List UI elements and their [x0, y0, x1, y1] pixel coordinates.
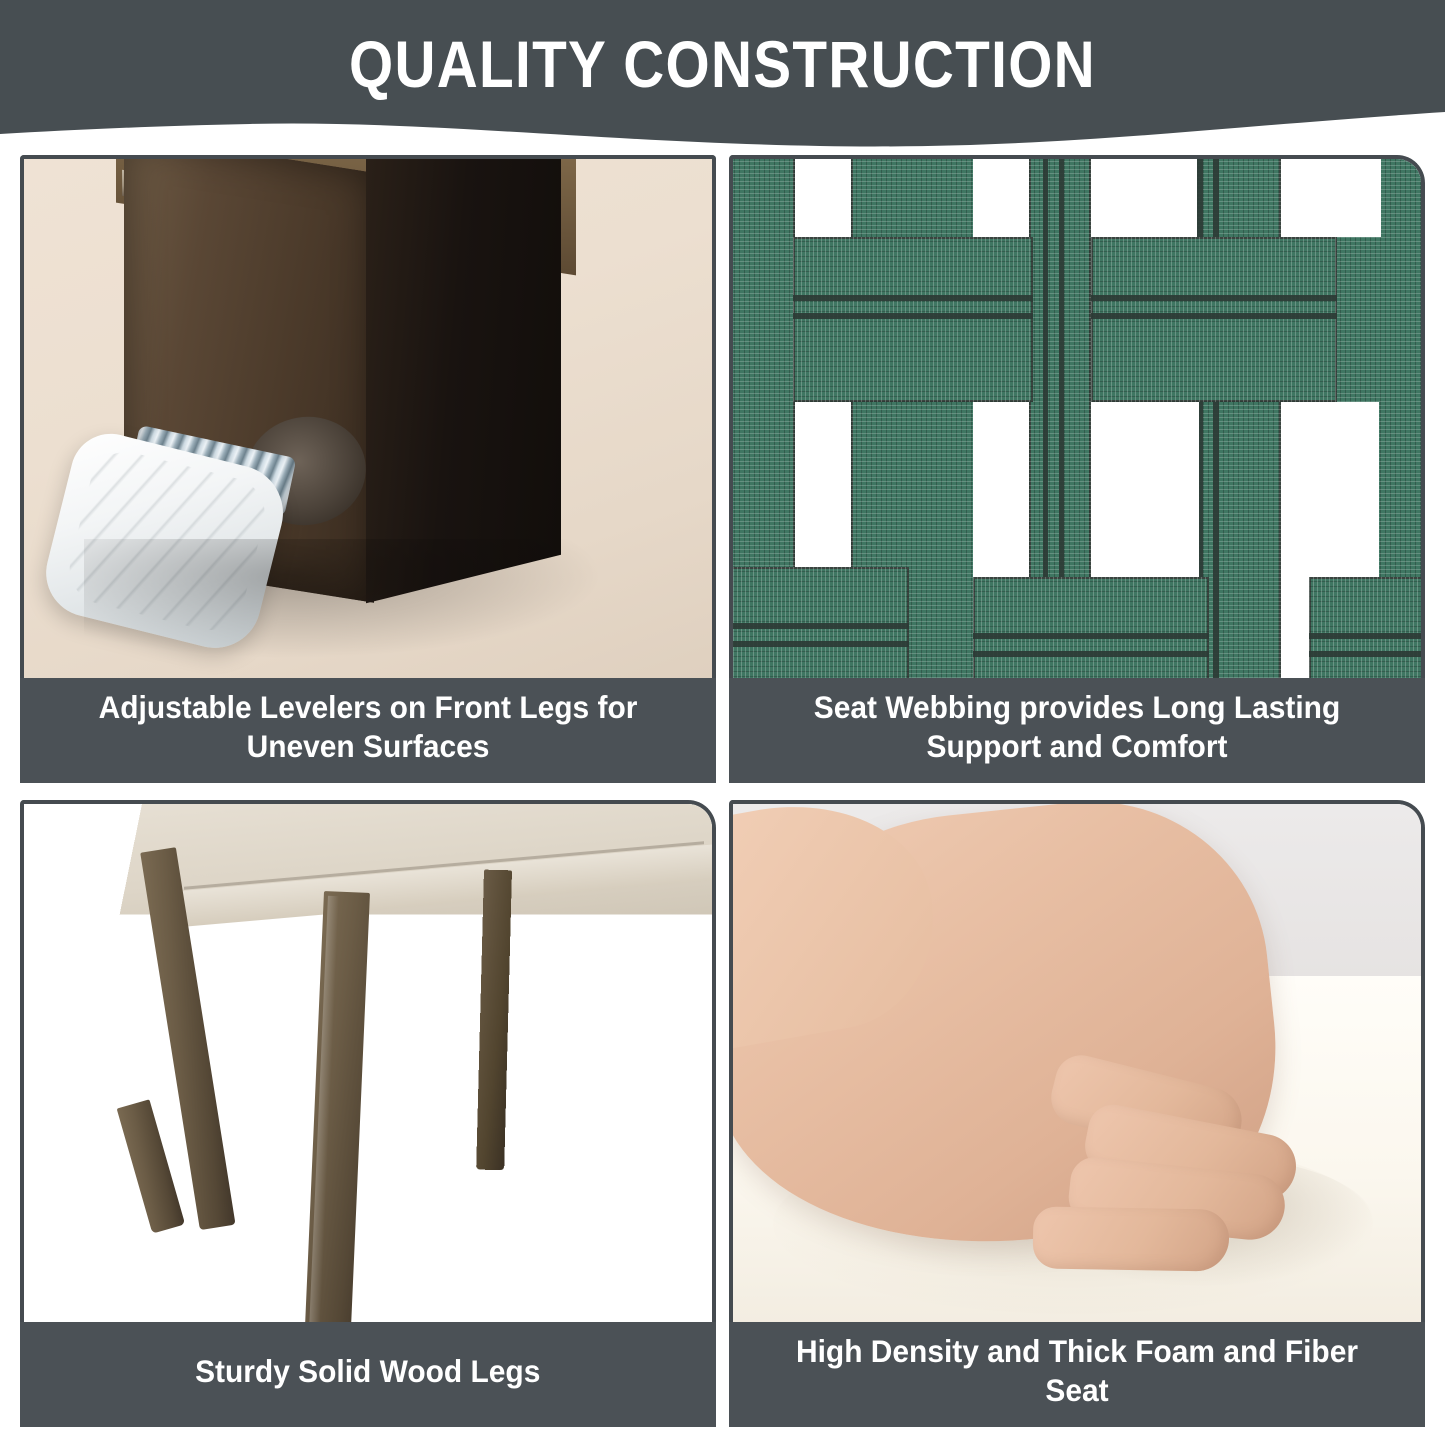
webbing-strap-horizontal: [973, 577, 1209, 678]
feature-grid: Adjustable Levelers on Front Legs for Un…: [20, 155, 1425, 1427]
webbing-weave: [733, 159, 1421, 678]
panel-levelers: Adjustable Levelers on Front Legs for Un…: [20, 155, 716, 783]
caption-levelers-text: Adjustable Levelers on Front Legs for Un…: [54, 688, 683, 766]
webbing-gap: [795, 402, 851, 567]
webbing-strap-horizontal: [793, 237, 1033, 402]
webbing-photo: [729, 155, 1425, 678]
strap-accent-stripe: [1091, 295, 1337, 301]
strap-accent-stripe: [1309, 633, 1425, 639]
caption-foam-text: High Density and Thick Foam and Fiber Se…: [763, 1332, 1392, 1410]
panel-foam: High Density and Thick Foam and Fiber Se…: [729, 800, 1425, 1427]
strap-accent-stripe: [1309, 651, 1425, 657]
wood-leg-side-face: [366, 155, 561, 603]
strap-accent-stripe: [793, 313, 1033, 319]
wood-legs-photo: [20, 800, 716, 1322]
caption-wood-legs-text: Sturdy Solid Wood Legs: [195, 1352, 540, 1391]
infographic-page: QUALITY CONSTRUCTION Adjustable Levelers…: [0, 0, 1445, 1445]
webbing-gap: [1333, 402, 1379, 577]
caption-levelers: Adjustable Levelers on Front Legs for Un…: [20, 678, 716, 783]
finger: [1032, 1206, 1229, 1271]
foam-photo: [729, 800, 1425, 1322]
webbing-strap-horizontal: [1309, 577, 1425, 678]
page-title: QUALITY CONSTRUCTION: [101, 26, 1344, 102]
leveler-photo: [20, 155, 716, 678]
webbing-gap: [973, 155, 1029, 237]
webbing-gap: [795, 155, 851, 237]
webbing-gap: [1153, 155, 1197, 237]
strap-accent-stripe: [973, 633, 1209, 639]
caption-webbing: Seat Webbing provides Long Lasting Suppo…: [729, 678, 1425, 783]
webbing-strap-horizontal: [729, 567, 909, 678]
header-banner: QUALITY CONSTRUCTION: [0, 0, 1445, 150]
panel-webbing: Seat Webbing provides Long Lasting Suppo…: [729, 155, 1425, 783]
caption-foam: High Density and Thick Foam and Fiber Se…: [729, 1322, 1425, 1427]
panel-wood-legs: Sturdy Solid Wood Legs: [20, 800, 716, 1427]
webbing-gap: [1333, 155, 1381, 237]
strap-accent-stripe: [973, 651, 1209, 657]
strap-accent-stripe: [1091, 313, 1337, 319]
webbing-gap: [1153, 402, 1199, 577]
strap-accent-stripe: [793, 295, 1033, 301]
caption-wood-legs: Sturdy Solid Wood Legs: [20, 1322, 716, 1427]
strap-accent-stripe: [729, 641, 909, 647]
leg-drop-shadow: [84, 539, 604, 659]
webbing-strap-horizontal: [1091, 237, 1337, 402]
strap-accent-stripe: [1213, 155, 1219, 678]
strap-accent-stripe: [729, 623, 909, 629]
webbing-gap: [973, 402, 1029, 577]
caption-webbing-text: Seat Webbing provides Long Lasting Suppo…: [763, 688, 1392, 766]
